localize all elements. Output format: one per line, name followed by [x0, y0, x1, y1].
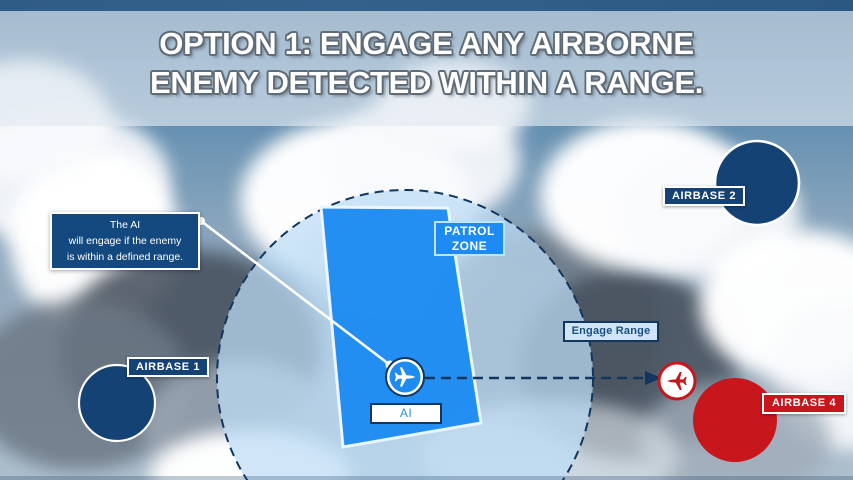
patrol-zone-label[interactable]: PATROL ZONE [434, 221, 505, 256]
engage-range-label[interactable]: Engage Range [563, 321, 659, 342]
bottom-accent-bar [0, 476, 853, 480]
enemy-aircraft-icon[interactable] [659, 363, 695, 399]
airbase-1-label-text: AIRBASE 1 [136, 361, 200, 374]
callout-text: The AI will engage if the enemy is withi… [67, 217, 183, 266]
ai-engagement-callout: The AI will engage if the enemy is withi… [50, 212, 200, 270]
airbase-4-label[interactable]: AIRBASE 4 [762, 393, 846, 414]
airbase-2-label[interactable]: AIRBASE 2 [663, 186, 745, 206]
slide-canvas: OPTION 1: ENGAGE ANY AIRBORNE ENEMY DETE… [0, 0, 853, 480]
airbase-4-label-text: AIRBASE 4 [772, 397, 836, 410]
ai-unit-label[interactable]: AI [370, 403, 442, 424]
airbase-4-marker[interactable] [693, 378, 777, 462]
ai-unit-label-text: AI [400, 406, 412, 420]
airbase-1-label[interactable]: AIRBASE 1 [127, 357, 209, 377]
airbase-2-label-text: AIRBASE 2 [672, 190, 736, 203]
patrol-zone-label-text: PATROL ZONE [444, 224, 495, 252]
ai-aircraft-icon[interactable] [386, 358, 424, 396]
airbase-2-marker[interactable] [715, 141, 799, 225]
engage-range-label-text: Engage Range [572, 325, 651, 338]
